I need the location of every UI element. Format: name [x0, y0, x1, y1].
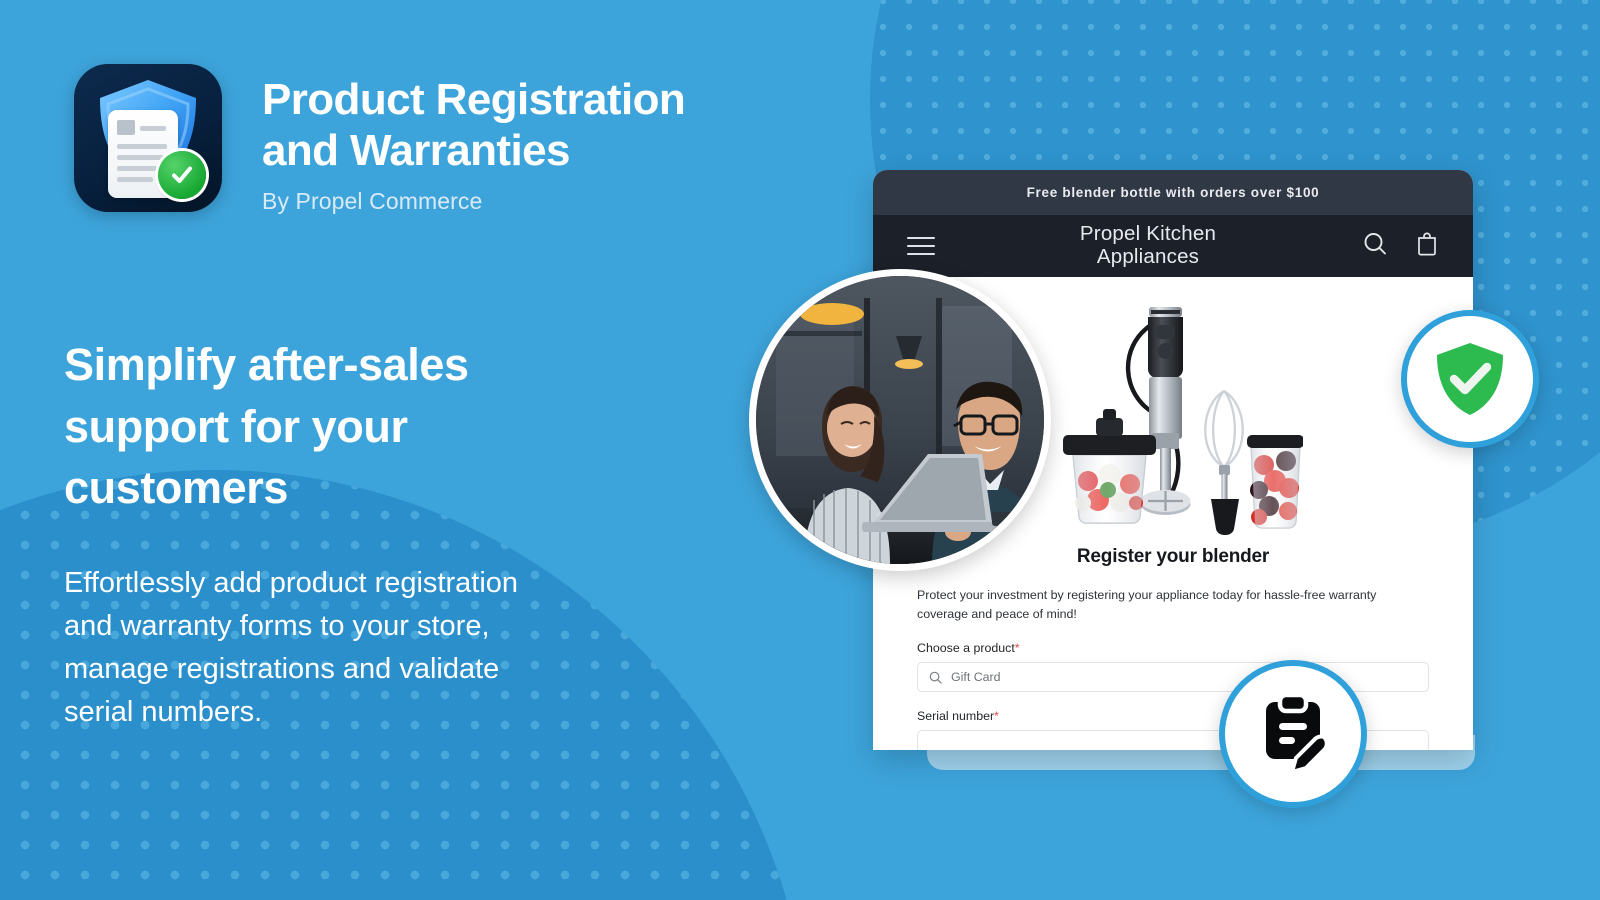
product-search-input[interactable]: Gift Card	[917, 662, 1429, 692]
left-content-column: Product Registration and Warranties By P…	[0, 0, 800, 900]
shield-check-badge	[1401, 310, 1539, 448]
form-title: Register your blender	[917, 546, 1429, 568]
form-field-choose-a-product: Choose a product* Gift Card	[917, 641, 1429, 692]
store-navbar: Propel Kitchen Appliances	[873, 215, 1473, 277]
app-publisher: By Propel Commerce	[262, 188, 685, 215]
clipboard-pencil-badge	[1219, 660, 1367, 808]
green-check-badge-icon	[158, 151, 206, 199]
announcement-bar: Free blender bottle with orders over $10…	[873, 170, 1473, 215]
app-title: Product Registration and Warranties	[262, 74, 685, 176]
brand-header: Product Registration and Warranties By P…	[74, 64, 685, 215]
app-icon	[74, 64, 222, 212]
shield-check-icon	[1434, 341, 1506, 417]
required-marker: *	[1015, 641, 1020, 655]
product-image-immersion-blender-set	[1048, 285, 1303, 537]
brand-text-block: Product Registration and Warranties By P…	[262, 64, 685, 215]
field-label: Choose a product*	[917, 641, 1429, 655]
page-headline: Simplify after-sales support for your cu…	[64, 334, 624, 519]
clipboard-pencil-icon	[1252, 693, 1334, 775]
registration-form: Register your blender Protect your inves…	[873, 542, 1473, 750]
search-icon[interactable]	[1361, 230, 1389, 263]
hamburger-menu-icon[interactable]	[907, 237, 935, 255]
page-subcopy: Effortlessly add product registration an…	[64, 562, 684, 734]
required-marker: *	[994, 709, 999, 723]
shop-name: Propel Kitchen Appliances	[935, 223, 1361, 269]
form-description: Protect your investment by registering y…	[917, 586, 1429, 623]
shopping-bag-icon[interactable]	[1415, 231, 1439, 262]
nav-icon-group	[1361, 230, 1439, 263]
announcement-text: Free blender bottle with orders over $10…	[1027, 185, 1320, 200]
customers-at-laptop-photo	[749, 269, 1051, 571]
product-search-value: Gift Card	[951, 670, 1001, 684]
search-icon	[929, 671, 942, 684]
